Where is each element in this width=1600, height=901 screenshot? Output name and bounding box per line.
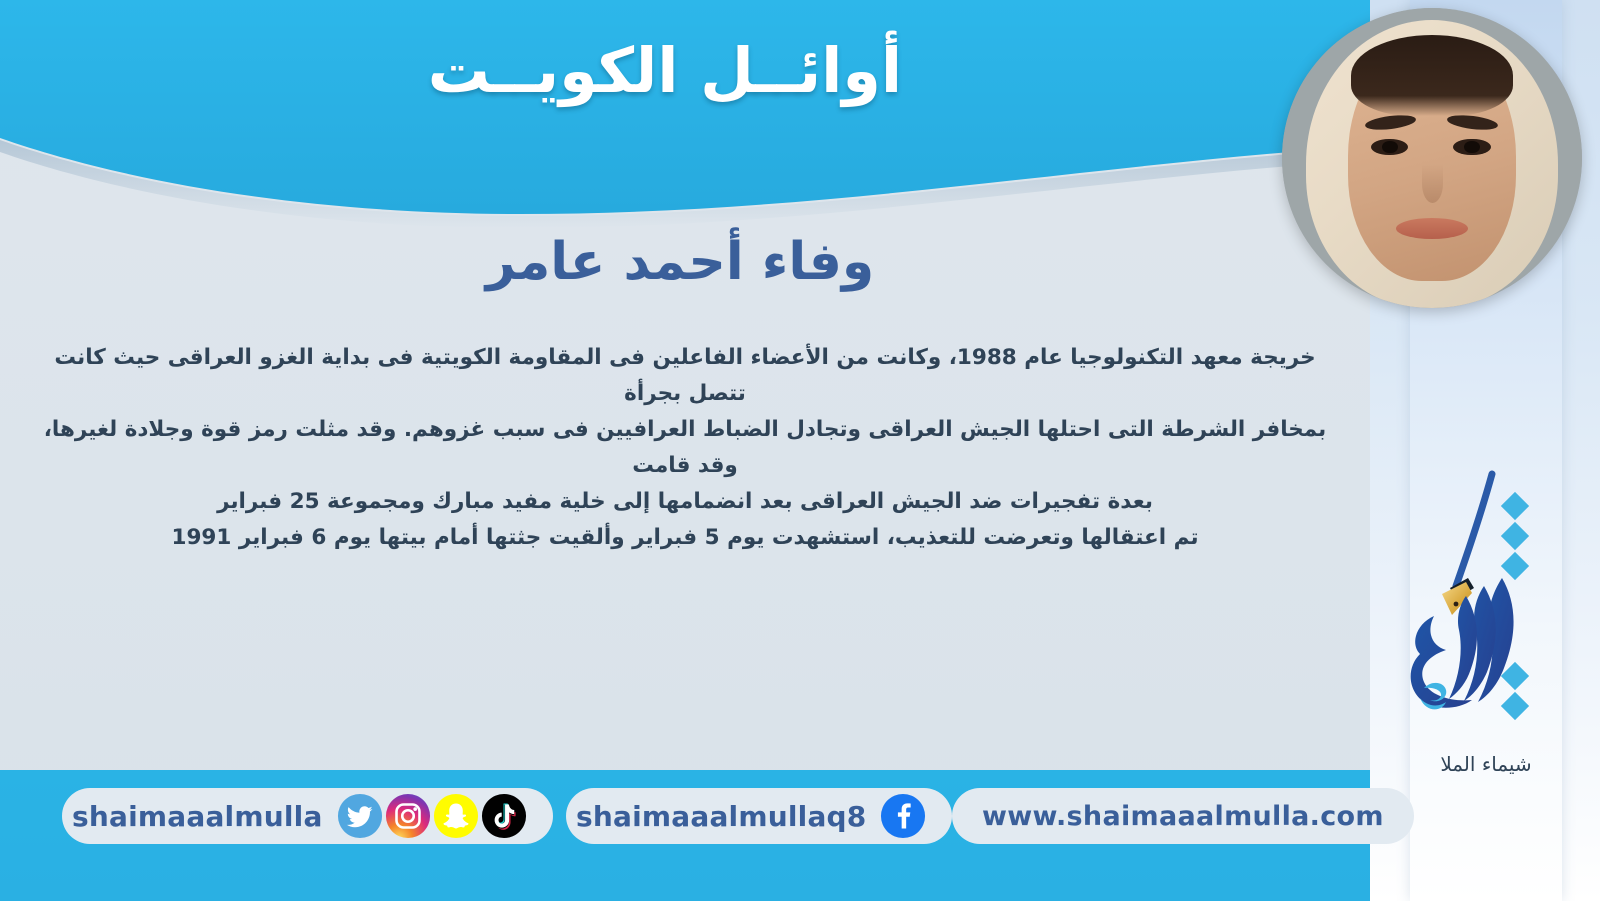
facebook-link[interactable]: shaimaaalmullaq8 — [566, 788, 952, 844]
facebook-handle: shaimaaalmullaq8 — [576, 800, 866, 833]
bio-line-2: بمخافر الشرطة التى احتلها الجيش العراقى … — [40, 412, 1330, 484]
brand-logo: شيماء الملا — [1398, 470, 1574, 800]
biography-text: خريجة معهد التكنولوجيا عام 1988، وكانت م… — [40, 340, 1330, 556]
instagram-icon[interactable] — [385, 793, 431, 839]
calligraphy-logo-icon — [1398, 470, 1574, 750]
nose-shape — [1422, 164, 1443, 203]
avatar — [1282, 8, 1582, 308]
hair-shape — [1351, 35, 1513, 116]
snapchat-icon[interactable] — [433, 793, 479, 839]
bio-line-4: تم اعتقالها وتعرضت للتعذيب، استشهدت يوم … — [40, 520, 1330, 556]
page-title: أوائــل الكويــت — [0, 34, 1330, 107]
facebook-icon[interactable] — [880, 793, 926, 839]
eye-left — [1371, 139, 1409, 156]
person-name: وفاء أحمد عامر — [0, 232, 1360, 292]
bio-line-1: خريجة معهد التكنولوجيا عام 1988، وكانت م… — [40, 340, 1330, 412]
social-handle: shaimaaalmulla — [72, 800, 323, 833]
twitter-icon[interactable] — [337, 793, 383, 839]
eye-right — [1453, 139, 1491, 156]
poster-canvas: أوائــل الكويــت وفاء أحمد عامر خريجة مع… — [0, 0, 1600, 901]
social-icon-row — [337, 793, 527, 839]
website-url: www.shaimaaalmulla.com — [982, 801, 1384, 832]
mouth-shape — [1396, 218, 1468, 239]
brand-name: شيماء الملا — [1398, 752, 1574, 776]
tiktok-icon[interactable] — [481, 793, 527, 839]
social-links-group[interactable]: shaimaaalmulla — [62, 788, 553, 844]
website-link[interactable]: www.shaimaaalmulla.com — [952, 788, 1414, 844]
bio-line-3: بعدة تفجيرات ضد الجيش العراقى بعد انضمام… — [40, 484, 1330, 520]
